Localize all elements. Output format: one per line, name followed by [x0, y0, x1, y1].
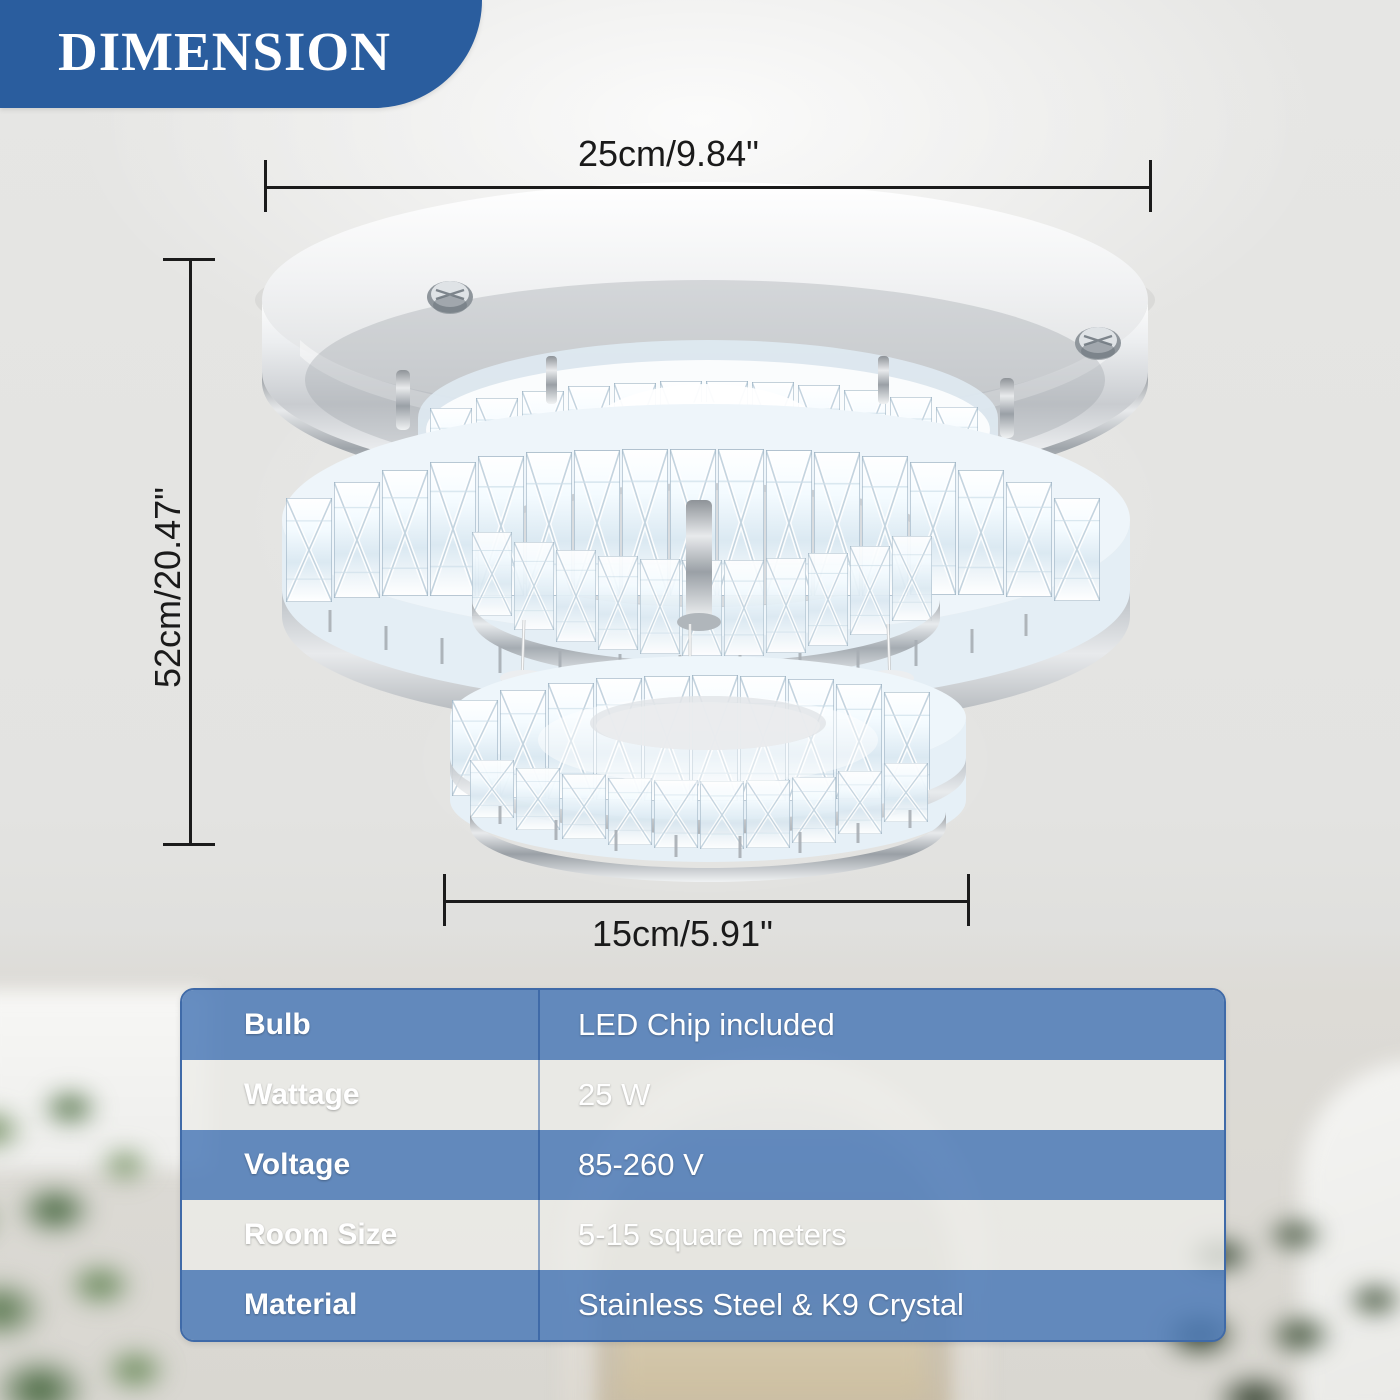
specification-table: Bulb LED Chip included Wattage 25 W Volt…	[180, 988, 1226, 1342]
infographic-page: DIMENSION 25cm/9.84" 52cm/20.47" 15cm/5.…	[0, 0, 1400, 1400]
table-row: Voltage 85-260 V	[182, 1130, 1224, 1200]
spec-value: 5-15 square meters	[540, 1200, 1224, 1270]
spec-key: Room Size	[182, 1200, 540, 1270]
spec-key: Voltage	[182, 1130, 540, 1200]
spec-value: LED Chip included	[540, 990, 1224, 1060]
dimension-banner: DIMENSION	[0, 0, 482, 108]
top-width-line	[264, 186, 1152, 189]
spec-key: Material	[182, 1270, 540, 1340]
dimension-banner-title: DIMENSION	[58, 20, 391, 83]
top-width-cap-right	[1149, 160, 1152, 212]
spec-value: Stainless Steel & K9 Crystal	[540, 1270, 1224, 1340]
left-height-cap-top	[163, 258, 215, 261]
top-width-cap-left	[264, 160, 267, 212]
top-width-label: 25cm/9.84"	[578, 133, 759, 175]
table-row: Bulb LED Chip included	[182, 990, 1224, 1060]
spec-value: 85-260 V	[540, 1130, 1224, 1200]
table-row: Material Stainless Steel & K9 Crystal	[182, 1270, 1224, 1340]
left-height-cap-bottom	[163, 843, 215, 846]
left-height-label: 52cm/20.47"	[147, 487, 189, 688]
center-stem	[686, 500, 712, 620]
spec-key: Wattage	[182, 1060, 540, 1130]
table-row: Room Size 5-15 square meters	[182, 1200, 1224, 1270]
bottom-width-cap-left	[443, 874, 446, 926]
bottom-width-line	[443, 900, 970, 903]
left-height-line	[189, 258, 192, 845]
table-row: Wattage 25 W	[182, 1060, 1224, 1130]
bottom-width-cap-right	[967, 874, 970, 926]
bottom-width-label: 15cm/5.91"	[592, 913, 773, 955]
spec-value: 25 W	[540, 1060, 1224, 1130]
spec-key: Bulb	[182, 990, 540, 1060]
